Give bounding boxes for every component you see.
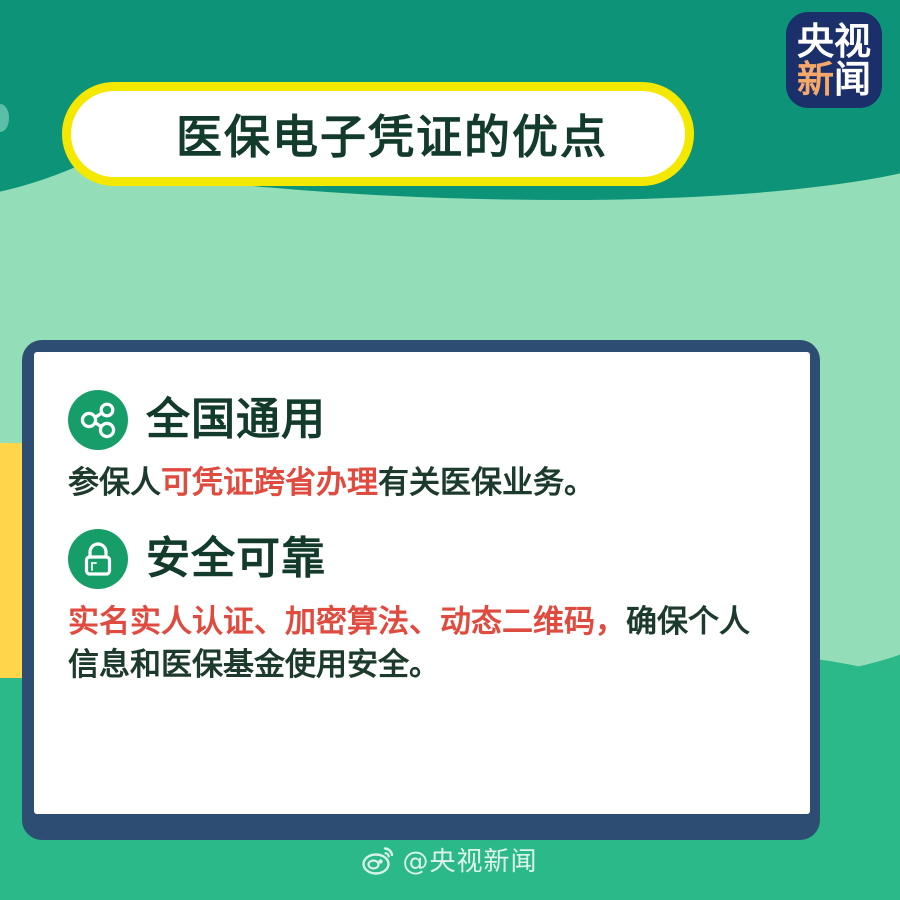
benefit-body-secure: 实名实人认证、加密算法、动态二维码，确保个人信息和医保基金使用安全。 [68,601,776,687]
content-card: 全国通用 参保人可凭证跨省办理有关医保业务。 [22,340,820,840]
benefit-body-highlight: 可凭证跨省办理 [161,465,378,501]
benefit-heading-secure: 安全可靠 [68,529,776,589]
footer-handle: @央视新闻 [402,841,537,878]
benefit-section-secure: 安全可靠 实名实人认证、加密算法、动态二维码，确保个人信息和医保基金使用安全。 [68,529,776,687]
benefit-body-highlight: 实名实人认证、加密算法、动态二维码， [68,604,626,640]
benefit-title-nationwide: 全国通用 [146,398,326,442]
logo-line-xinwen: 新 闻 [797,61,871,98]
benefit-body-part: 参保人 [68,465,161,501]
page-title-pill: 医保电子凭证的优点 [62,82,694,186]
poster-root: 央视 新 闻 医保电子凭证的优点 [0,0,900,900]
benefit-heading-nationwide: 全国通用 [68,390,776,450]
logo-char-xin: 新 [797,61,834,98]
benefit-section-nationwide: 全国通用 参保人可凭证跨省办理有关医保业务。 [68,390,776,505]
logo-char-wen: 闻 [834,61,871,98]
footer: @央视新闻 [0,841,900,878]
share-network-icon [68,390,128,450]
weibo-icon [362,845,396,875]
benefit-body-nationwide: 参保人可凭证跨省办理有关医保业务。 [68,462,776,505]
benefit-body-part: 有关医保业务。 [378,465,595,501]
content-card-inner: 全国通用 参保人可凭证跨省办理有关医保业务。 [34,352,810,814]
benefit-title-secure: 安全可靠 [146,537,326,581]
lock-icon [68,529,128,589]
page-title: 医保电子凭证的优点 [176,101,608,167]
logo-line-yangshi: 央视 [797,23,871,60]
cctv-news-logo: 央视 新 闻 [786,12,882,108]
